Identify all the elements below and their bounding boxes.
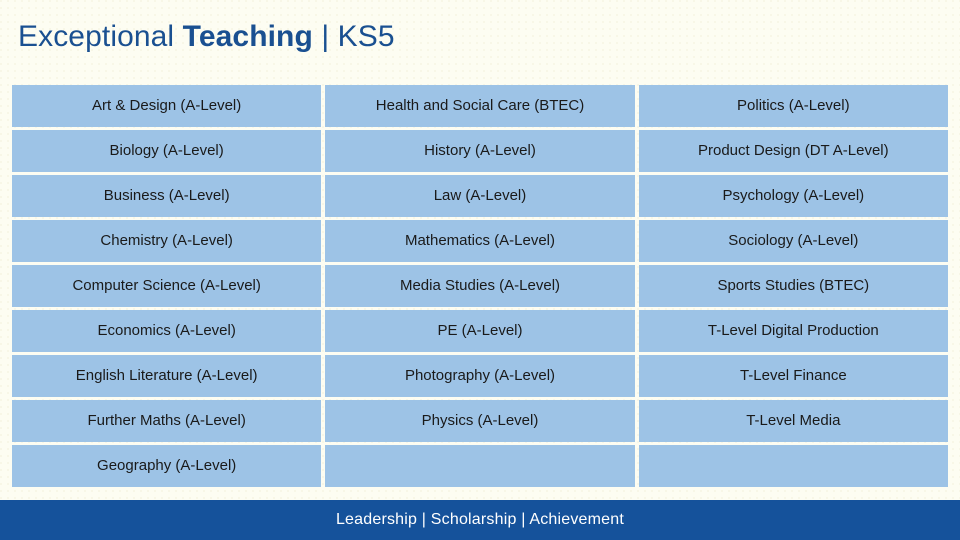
subject-label: Biology (A-Level) [110, 143, 224, 160]
subject-label: Business (A-Level) [104, 188, 230, 205]
subject-label: Health and Social Care (BTEC) [376, 98, 584, 115]
title-bold-word: Teaching [183, 20, 313, 53]
subject-label: Economics (A-Level) [97, 323, 235, 340]
table-cell-subject: Computer Science (A-Level) [12, 265, 321, 307]
table-cell-subject: Biology (A-Level) [12, 130, 321, 172]
slide-canvas: Exceptional Teaching | KS5 Art & Design … [0, 0, 960, 540]
title-separator: | [313, 20, 338, 53]
table-cell-subject: Economics (A-Level) [12, 310, 321, 352]
subject-label: PE (A-Level) [437, 323, 522, 340]
title-light-prefix: Exceptional [18, 20, 183, 53]
subject-label: Psychology (A-Level) [722, 188, 864, 205]
subject-label: Product Design (DT A-Level) [698, 143, 889, 160]
table-row: Chemistry (A-Level)Mathematics (A-Level)… [12, 220, 948, 262]
table-cell-subject: Media Studies (A-Level) [325, 265, 634, 307]
table-cell-subject: Art & Design (A-Level) [12, 85, 321, 127]
table-row: Geography (A-Level) [12, 445, 948, 487]
subject-label: Law (A-Level) [434, 188, 527, 205]
table-cell-subject: History (A-Level) [325, 130, 634, 172]
table-cell-subject: T-Level Finance [639, 355, 948, 397]
subject-label: Computer Science (A-Level) [72, 278, 260, 295]
subject-label: Photography (A-Level) [405, 368, 555, 385]
subject-label: Chemistry (A-Level) [100, 233, 233, 250]
slide-title-container: Exceptional Teaching | KS5 [18, 14, 918, 60]
table-cell-subject: English Literature (A-Level) [12, 355, 321, 397]
table-row: English Literature (A-Level)Photography … [12, 355, 948, 397]
footer-tagline: Leadership | Scholarship | Achievement [336, 511, 624, 529]
table-cell-subject: Sociology (A-Level) [639, 220, 948, 262]
subject-label: English Literature (A-Level) [76, 368, 258, 385]
subject-label: Art & Design (A-Level) [92, 98, 241, 115]
table-cell-empty [639, 445, 948, 487]
table-cell-subject: Politics (A-Level) [639, 85, 948, 127]
subject-label: Mathematics (A-Level) [405, 233, 555, 250]
subject-label: Further Maths (A-Level) [87, 413, 245, 430]
subject-label: Media Studies (A-Level) [400, 278, 560, 295]
subject-table: Art & Design (A-Level)Health and Social … [12, 85, 948, 487]
table-cell-subject: Health and Social Care (BTEC) [325, 85, 634, 127]
table-row: Computer Science (A-Level)Media Studies … [12, 265, 948, 307]
table-cell-subject: T-Level Media [639, 400, 948, 442]
page-title: Exceptional Teaching | KS5 [18, 21, 395, 53]
subject-label: Sociology (A-Level) [728, 233, 858, 250]
table-row: Business (A-Level)Law (A-Level)Psycholog… [12, 175, 948, 217]
table-row: Art & Design (A-Level)Health and Social … [12, 85, 948, 127]
table-cell-subject: Business (A-Level) [12, 175, 321, 217]
table-cell-empty [325, 445, 634, 487]
table-cell-subject: Product Design (DT A-Level) [639, 130, 948, 172]
table-cell-subject: Sports Studies (BTEC) [639, 265, 948, 307]
table-cell-subject: Physics (A-Level) [325, 400, 634, 442]
table-cell-subject: PE (A-Level) [325, 310, 634, 352]
table-cell-subject: Psychology (A-Level) [639, 175, 948, 217]
table-cell-subject: Mathematics (A-Level) [325, 220, 634, 262]
subject-label: Sports Studies (BTEC) [717, 278, 869, 295]
table-row: Biology (A-Level)History (A-Level)Produc… [12, 130, 948, 172]
table-row: Economics (A-Level)PE (A-Level)T-Level D… [12, 310, 948, 352]
table-cell-subject: Law (A-Level) [325, 175, 634, 217]
subject-label: T-Level Finance [740, 368, 847, 385]
title-tail: KS5 [338, 20, 395, 53]
footer-bar: Leadership | Scholarship | Achievement [0, 500, 960, 540]
subject-label: History (A-Level) [424, 143, 536, 160]
table-row: Further Maths (A-Level)Physics (A-Level)… [12, 400, 948, 442]
subject-label: Geography (A-Level) [97, 458, 236, 475]
subject-label: T-Level Media [746, 413, 840, 430]
table-cell-subject: Photography (A-Level) [325, 355, 634, 397]
table-cell-subject: T-Level Digital Production [639, 310, 948, 352]
table-cell-subject: Geography (A-Level) [12, 445, 321, 487]
subject-label: T-Level Digital Production [708, 323, 879, 340]
table-cell-subject: Further Maths (A-Level) [12, 400, 321, 442]
subject-label: Politics (A-Level) [737, 98, 850, 115]
table-cell-subject: Chemistry (A-Level) [12, 220, 321, 262]
subject-label: Physics (A-Level) [422, 413, 539, 430]
